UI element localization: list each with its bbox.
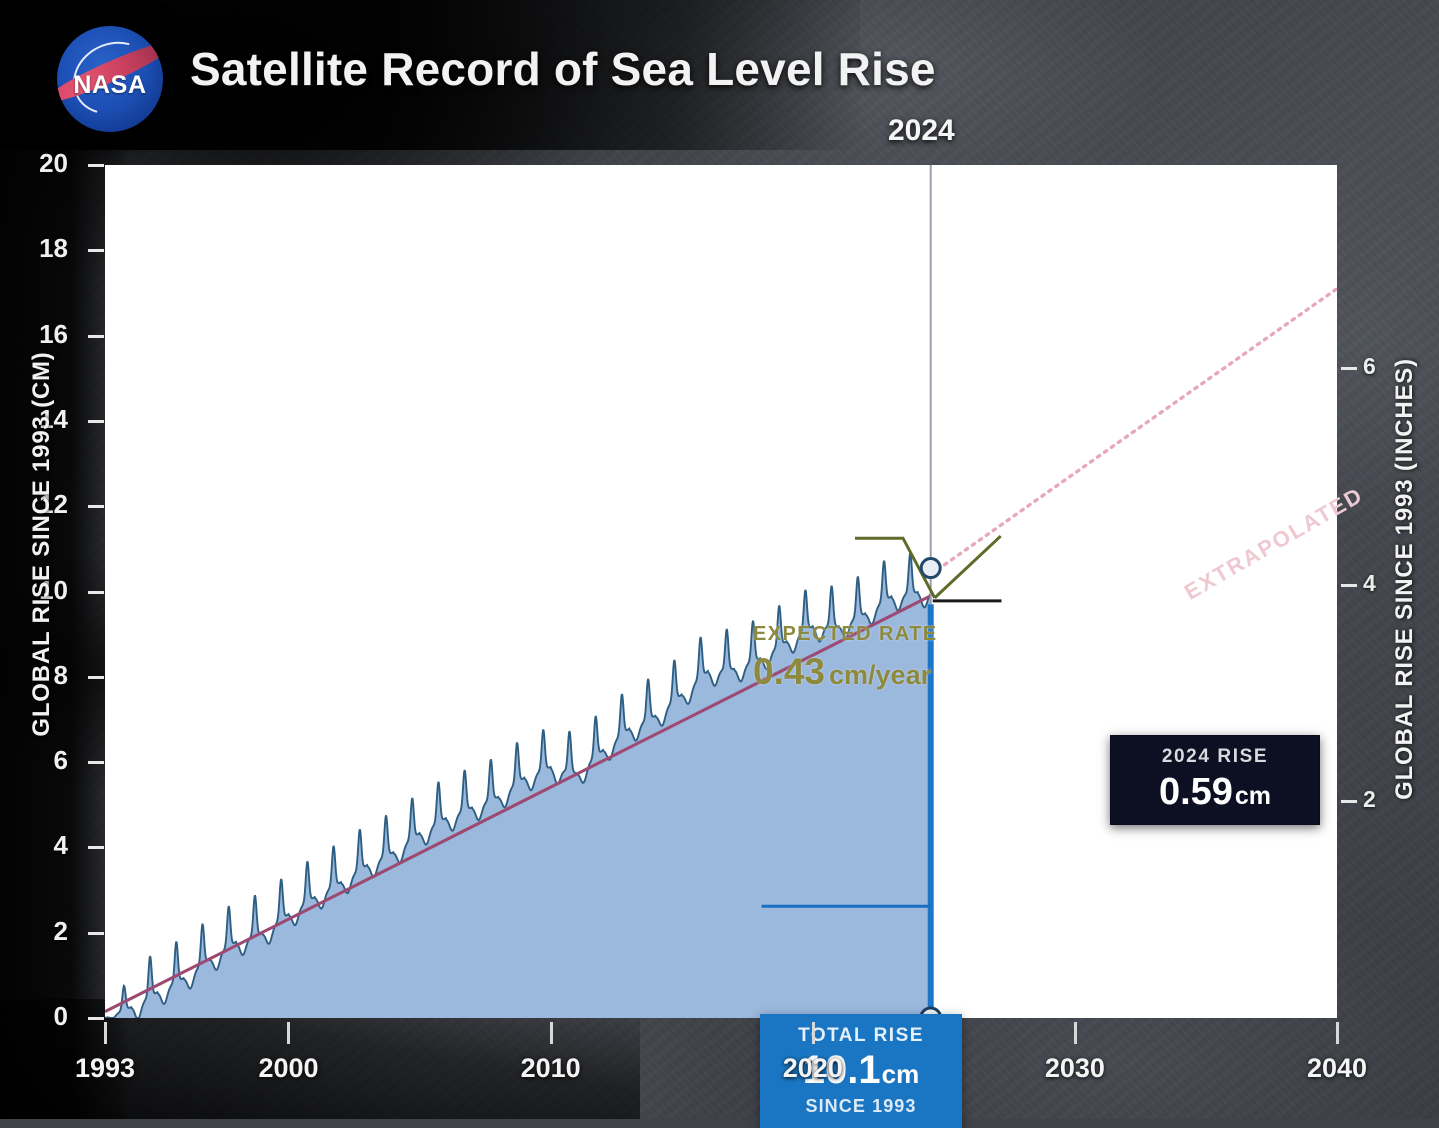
rise-2024-heading: 2024 RISE	[1162, 746, 1268, 768]
rise-2024-unit: cm	[1235, 782, 1271, 810]
total-rise-subtext: SINCE 1993	[805, 1096, 916, 1117]
y-axis-tick-mark	[88, 591, 104, 594]
right-y-axis-tick-label: 4	[1363, 570, 1376, 597]
y-axis-tick-mark	[88, 1017, 104, 1020]
x-axis-tick-mark	[1074, 1022, 1077, 1044]
nasa-logo: NASA	[57, 26, 163, 132]
x-axis-tick-mark	[812, 1022, 815, 1044]
right-y-axis-tick-mark	[1341, 800, 1357, 803]
y-axis-tick-mark	[88, 761, 104, 764]
x-axis-tick-label: 2000	[244, 1053, 332, 1084]
x-axis-tick-mark	[104, 1022, 107, 1044]
expected-rate-unit: cm/year	[829, 660, 931, 690]
y-axis-tick-mark	[88, 249, 104, 252]
y-axis-tick-mark	[88, 335, 104, 338]
y-axis-tick-label: 20	[8, 148, 68, 179]
y-axis-tick-mark	[88, 420, 104, 423]
year-marker-label: 2024	[888, 114, 955, 148]
expected-rate-callout: EXPECTED RATE 0.43cm/year	[753, 623, 938, 693]
y-axis-tick-mark	[88, 932, 104, 935]
y-axis-tick-mark	[88, 164, 104, 167]
y-axis-title: GLOBAL RISE SINCE 1993 (CM)	[28, 244, 56, 844]
x-axis-tick-label: 2040	[1293, 1053, 1381, 1084]
x-axis-tick-label: 2030	[1031, 1053, 1119, 1084]
y-axis-tick-mark	[88, 846, 104, 849]
rise-2024-callout: 2024 RISE 0.59cm	[1110, 735, 1320, 825]
chart-plot-area: EXTRAPOLATED EXPECTED RATE 0.43cm/year 2…	[105, 165, 1337, 1018]
right-y-axis-tick-mark	[1341, 584, 1357, 587]
right-y-axis-tick-label: 6	[1363, 353, 1376, 380]
page-title: Satellite Record of Sea Level Rise	[190, 42, 936, 96]
x-axis-tick-label: 2020	[769, 1053, 857, 1084]
chart-canvas	[105, 165, 1337, 1018]
right-y-axis-tick-mark	[1341, 367, 1357, 370]
expected-rate-heading: EXPECTED RATE	[753, 623, 938, 646]
expected-rate-value: 0.43	[753, 651, 825, 692]
x-axis-tick-mark	[1336, 1022, 1339, 1044]
x-axis-tick-label: 1993	[61, 1053, 149, 1084]
y-axis-title-right: GLOBAL RISE SINCE 1993 (INCHES)	[1391, 279, 1419, 879]
y-axis-tick-label: 0	[8, 1001, 68, 1032]
expected-rate-leader-line-2	[935, 536, 1001, 598]
x-axis-tick-mark	[550, 1022, 553, 1044]
total-rise-heading: TOTAL RISE	[798, 1025, 924, 1047]
y-axis-tick-mark	[88, 676, 104, 679]
expected-rate-value-row: 0.43cm/year	[753, 651, 938, 693]
y-axis-tick-mark	[88, 505, 104, 508]
total-rise-unit: cm	[882, 1059, 920, 1089]
right-y-axis-tick-label: 2	[1363, 786, 1376, 813]
rise-2024-value-row: 0.59cm	[1159, 771, 1271, 814]
rise-2024-value: 0.59	[1159, 771, 1233, 813]
x-axis-tick-label: 2010	[507, 1053, 595, 1084]
nasa-logo-wordmark: NASA	[57, 71, 163, 100]
marker-2024-top	[921, 559, 940, 578]
y-axis-tick-label: 2	[8, 916, 68, 947]
x-axis-tick-mark	[287, 1022, 290, 1044]
